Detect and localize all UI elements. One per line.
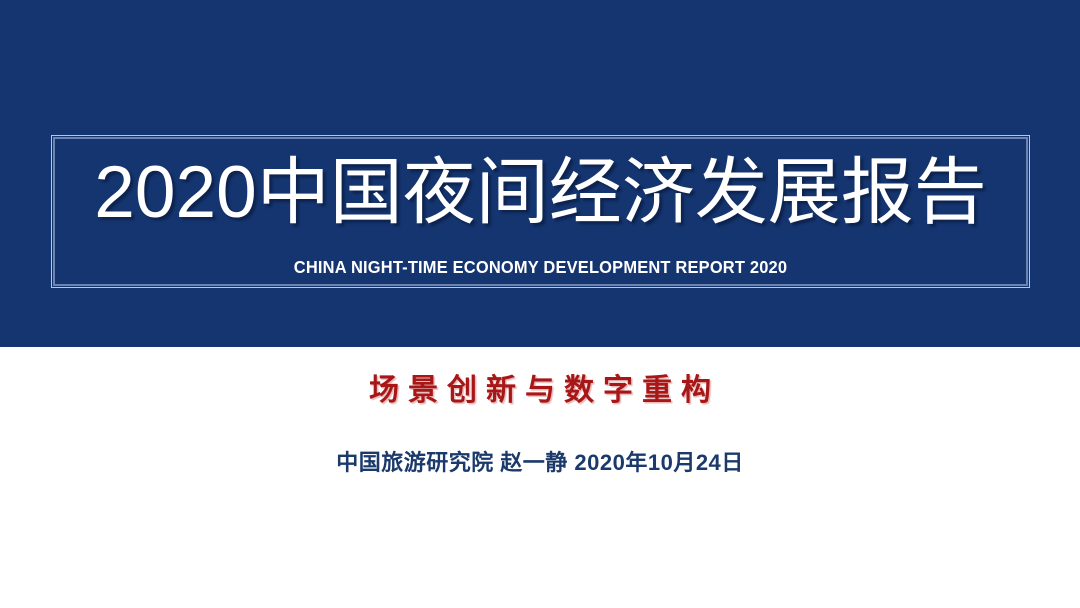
page-subtitle-english: CHINA NIGHT-TIME ECONOMY DEVELOPMENT REP… bbox=[80, 256, 1000, 278]
page-title: 2020中国夜间经济发展报告 bbox=[51, 150, 1030, 236]
byline: 中国旅游研究院 赵一静 2020年10月24日 bbox=[0, 448, 1080, 478]
tagline: 场景创新与数字重构 bbox=[0, 372, 1080, 410]
title-slide: 2020中国夜间经济发展报告 CHINA NIGHT-TIME ECONOMY … bbox=[0, 0, 1080, 608]
